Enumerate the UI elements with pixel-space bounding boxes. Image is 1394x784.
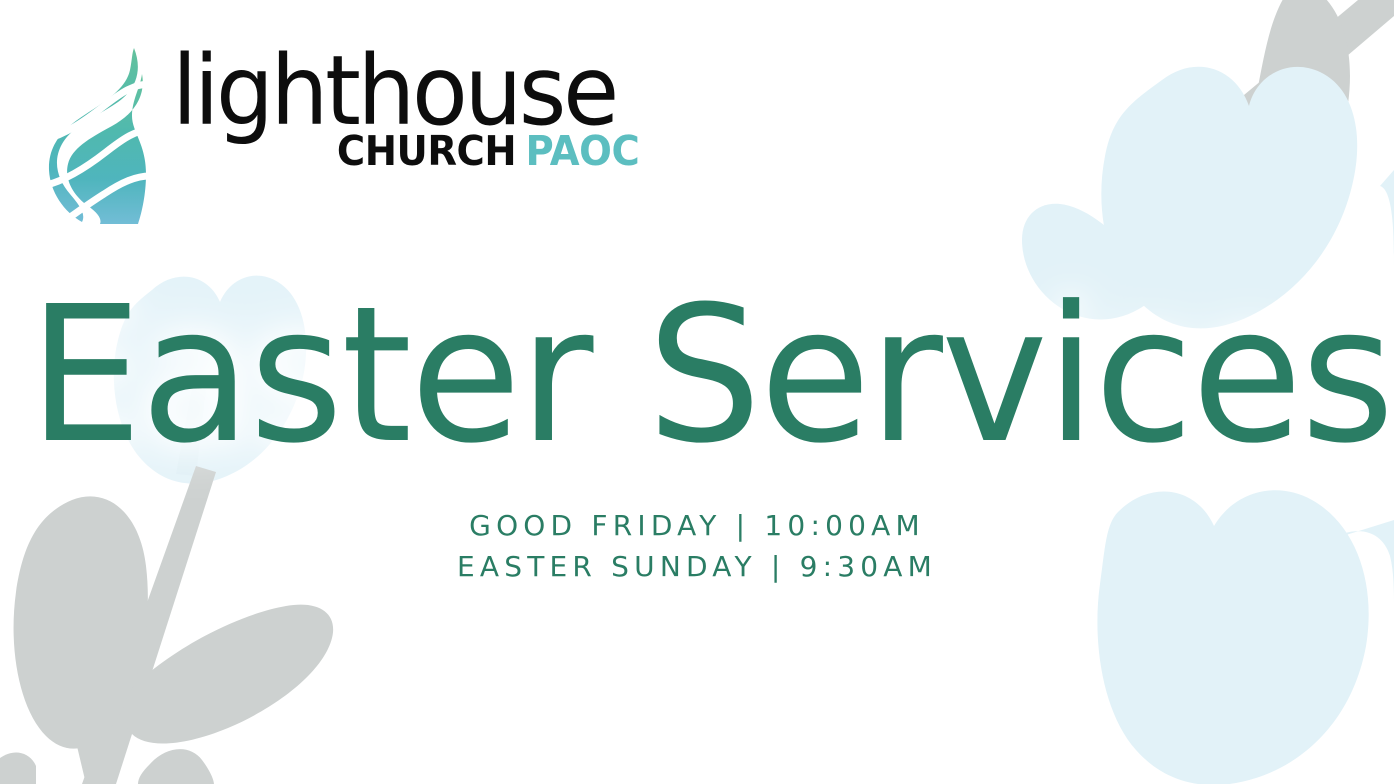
service-time-line-easter-sunday: EASTER SUNDAY | 9:30AM <box>0 546 1394 587</box>
leaf-stem-top-right-icon <box>1178 0 1394 179</box>
service-time-line-good-friday: GOOD FRIDAY | 10:00AM <box>0 505 1394 546</box>
page-title: Easter Services <box>28 282 1392 470</box>
logo-subtext: CHURCHPAOC <box>200 131 639 172</box>
lighthouse-flame-mark-icon <box>46 44 150 224</box>
headline-block: Easter Services <box>0 282 1394 470</box>
tulip-edge-right-icon <box>1380 170 1394 268</box>
logo-wordmark-lighthouse: lighthouse <box>172 46 616 137</box>
logo-subtext-church: CHURCH <box>337 127 516 175</box>
logo-wordmark-group: lighthouse CHURCHPAOC <box>172 42 639 172</box>
lighthouse-logo[interactable]: lighthouse CHURCHPAOC <box>46 42 639 224</box>
service-times-block: GOOD FRIDAY | 10:00AM EASTER SUNDAY | 9:… <box>0 505 1394 588</box>
easter-services-slide: lighthouse CHURCHPAOC Easter Services GO… <box>0 0 1394 784</box>
logo-subtext-paoc: PAOC <box>526 127 640 175</box>
